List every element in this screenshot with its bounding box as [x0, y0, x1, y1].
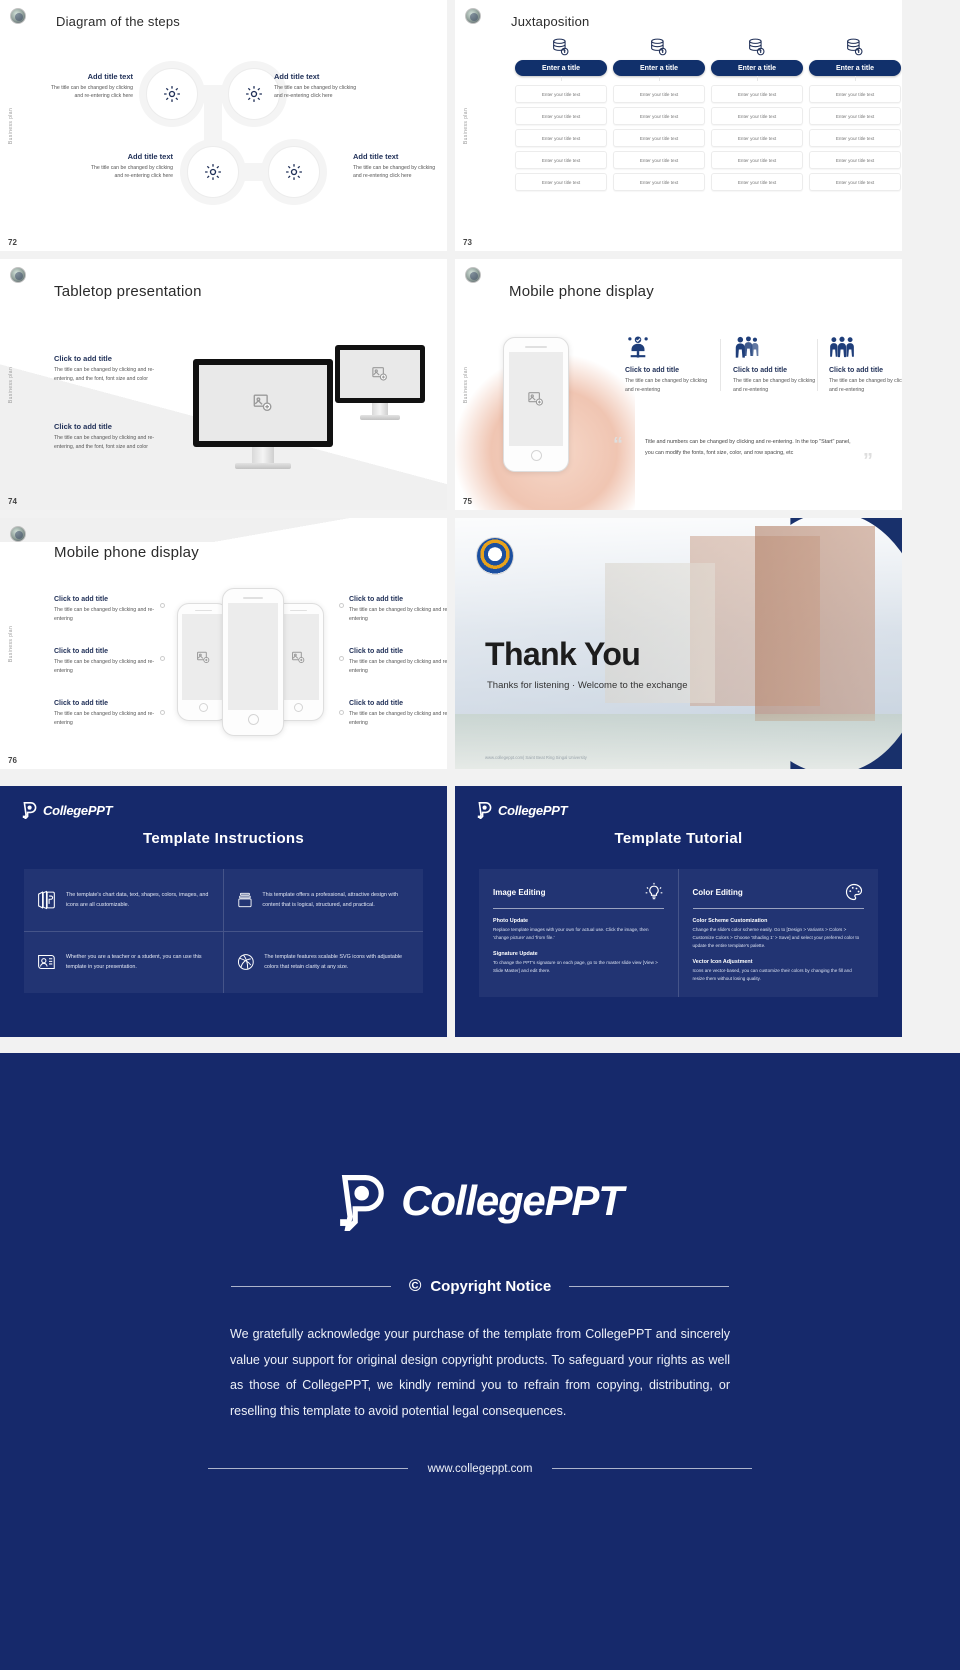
juxtaposition-cell[interactable]: Enter your title text	[613, 151, 705, 169]
slide-number: 74	[8, 497, 17, 506]
brand-name: CollegePPT	[498, 803, 567, 818]
juxtaposition-column: Enter a titleEnter your title textEnter …	[613, 38, 705, 191]
image-placeholder-icon	[252, 392, 274, 414]
step-title: Add title text	[274, 72, 364, 81]
item-body: The title can be changed by clicking and…	[54, 606, 156, 625]
slide-side-label: Business plan	[8, 107, 14, 143]
left-item-2: Click to add title The title can be chan…	[54, 648, 156, 677]
instruction-cell-4: The template features scalable SVG icons…	[224, 932, 424, 994]
slide-title: Template Instructions	[0, 830, 447, 847]
phone-speaker	[195, 610, 212, 611]
slide-title: Tabletop presentation	[54, 283, 202, 300]
item-title: Click to add title	[349, 648, 447, 655]
brand-name: CollegePPT	[401, 1177, 622, 1225]
gear-node-2[interactable]	[228, 68, 280, 120]
slide-mobile-phone-display-a[interactable]: Business plan Mobile phone display Cli	[455, 259, 902, 510]
thank-you-subheading: Thanks for listening · Welcome to the ex…	[487, 680, 687, 691]
phone-home-button[interactable]	[248, 714, 259, 725]
copyright-brand-logo: CollegePPT	[337, 1171, 622, 1231]
copyright-footer: www.collegeppt.com	[208, 1463, 753, 1475]
phone-home-button[interactable]	[294, 703, 303, 712]
juxtaposition-cell[interactable]: Enter your title text	[809, 107, 901, 125]
phone-speaker	[525, 346, 547, 348]
step-title: Add title text	[48, 72, 133, 81]
item-body: The title can be changed by clicking and…	[349, 606, 447, 625]
step-block-1: Add title text The title can be changed …	[48, 72, 133, 100]
step-body: The title can be changed by clicking and…	[48, 84, 133, 100]
item-body: The title can be changed by clicking and…	[733, 377, 821, 396]
collegeppt-mark-icon	[477, 801, 493, 819]
slide-side-label: Business plan	[463, 107, 469, 143]
gear-node-4[interactable]	[268, 146, 320, 198]
item-title: Click to add title	[54, 354, 172, 363]
copyright-symbol-icon: ©	[409, 1276, 422, 1296]
slide-number: 75	[463, 497, 472, 506]
item-title: Click to add title	[54, 648, 156, 655]
slide-title: Template Tutorial	[455, 830, 902, 847]
juxtaposition-cell[interactable]: Enter your title text	[711, 173, 803, 191]
gear-icon	[203, 162, 223, 182]
juxtaposition-title-button[interactable]: Enter a title	[809, 60, 901, 76]
column-heading: Image Editing	[493, 888, 545, 897]
left-item-3: Click to add title The title can be chan…	[54, 700, 156, 729]
juxtaposition-cell[interactable]: Enter your title text	[809, 85, 901, 103]
slide-juxtaposition[interactable]: Business plan Juxtaposition Enter a titl…	[455, 0, 902, 251]
item-body: The title can be changed by clicking and…	[829, 377, 902, 396]
slide-tabletop-presentation[interactable]: Business plan Tabletop presentation Clic…	[0, 259, 447, 510]
juxtaposition-cell[interactable]: Enter your title text	[613, 129, 705, 147]
dribbble-icon	[236, 947, 256, 977]
university-seal-icon	[465, 267, 481, 283]
copyright-notice-row: © Copyright Notice	[231, 1276, 729, 1296]
stem-line	[855, 76, 856, 81]
university-seal-icon	[10, 267, 26, 283]
column-heading: Color Editing	[693, 888, 743, 897]
juxtaposition-cell[interactable]: Enter your title text	[515, 173, 607, 191]
juxtaposition-cell[interactable]: Enter your title text	[515, 129, 607, 147]
tabletop-item-1: Click to add title The title can be chan…	[54, 354, 172, 385]
juxtaposition-cell[interactable]: Enter your title text	[711, 85, 803, 103]
university-logo	[477, 538, 513, 574]
step-title: Add title text	[88, 152, 173, 161]
section-subtitle: Photo Update	[493, 918, 664, 924]
slide-template-instructions[interactable]: CollegePPT Template Instructions The tem…	[0, 786, 447, 1037]
image-placeholder-icon	[291, 650, 306, 665]
item-title: Click to add title	[829, 367, 902, 374]
collegeppt-mark-icon	[337, 1171, 389, 1231]
people-group-icon	[733, 335, 759, 359]
juxtaposition-title-button[interactable]: Enter a title	[711, 60, 803, 76]
slide-contact-sheet: Business plan Diagram of the steps	[0, 0, 960, 1670]
juxtaposition-cell[interactable]: Enter your title text	[809, 151, 901, 169]
image-placeholder-icon	[527, 390, 545, 408]
coin-stack-icon	[613, 38, 705, 56]
step-body: The title can be changed by clicking and…	[88, 164, 173, 180]
collegeppt-mark-icon	[22, 801, 38, 819]
item-body: The title can be changed by clicking and…	[54, 710, 156, 729]
quote-open-icon: “	[613, 439, 623, 451]
rule-right	[552, 1468, 752, 1469]
right-item-1: Click to add title The title can be chan…	[349, 596, 447, 625]
juxtaposition-title-button[interactable]: Enter a title	[515, 60, 607, 76]
brand-logo: CollegePPT	[22, 801, 112, 819]
right-item-3: Click to add title The title can be chan…	[349, 700, 447, 729]
slide-side-label: Business plan	[8, 625, 14, 661]
instruction-cell-3: Whether you are a teacher or a student, …	[24, 932, 224, 994]
phone-speaker	[243, 597, 263, 599]
juxtaposition-cell[interactable]: Enter your title text	[711, 129, 803, 147]
section-subtitle: Color Scheme Customization	[693, 918, 865, 924]
juxtaposition-cell[interactable]: Enter your title text	[515, 85, 607, 103]
rule-right	[569, 1286, 729, 1287]
item-title: Click to add title	[54, 422, 172, 431]
stem-line	[757, 76, 758, 81]
slide-template-tutorial[interactable]: CollegePPT Template Tutorial Image Editi…	[455, 786, 902, 1037]
connector-dot	[160, 603, 165, 608]
slide-title: Diagram of the steps	[56, 14, 180, 29]
lightbulb-icon	[644, 882, 664, 902]
connector-dot	[160, 656, 165, 661]
juxtaposition-cell[interactable]: Enter your title text	[613, 173, 705, 191]
instruction-cell-2: This template offers a professional, att…	[224, 869, 424, 932]
instructions-grid: The template's chart data, text, shapes,…	[24, 869, 423, 993]
section-body: Replace template images with your own fo…	[493, 926, 664, 942]
juxtaposition-cell[interactable]: Enter your title text	[809, 173, 901, 191]
juxtaposition-cell[interactable]: Enter your title text	[711, 151, 803, 169]
university-seal-icon	[465, 8, 481, 24]
step-title: Add title text	[353, 152, 443, 161]
university-seal-icon	[10, 526, 26, 542]
instruction-text: The template's chart data, text, shapes,…	[66, 890, 211, 910]
header-shape	[0, 518, 447, 542]
juxtaposition-cell[interactable]: Enter your title text	[711, 107, 803, 125]
divider-2	[817, 339, 818, 391]
id-card-icon	[36, 947, 57, 977]
rule-left	[208, 1468, 408, 1469]
tutorial-column-color-editing: Color Editing Color Scheme Customization…	[679, 869, 879, 997]
section-body: Icons are vector-based, you can customiz…	[693, 967, 865, 983]
juxtaposition-column: Enter a titleEnter your title textEnter …	[809, 38, 901, 191]
stem-line	[561, 76, 562, 81]
divider-1	[720, 339, 721, 391]
copyright-body-text: We gratefully acknowledge your purchase …	[230, 1322, 730, 1425]
connector-dot	[339, 656, 344, 661]
juxtaposition-cell[interactable]: Enter your title text	[613, 85, 705, 103]
copyright-notice-title: © Copyright Notice	[409, 1276, 551, 1296]
slide-title: Juxtaposition	[511, 14, 589, 29]
item-title: Click to add title	[349, 596, 447, 603]
step-block-4: Add title text The title can be changed …	[353, 152, 443, 180]
stem-line	[659, 76, 660, 81]
three-people-icon	[829, 335, 855, 359]
coin-stack-icon	[515, 38, 607, 56]
tabletop-item-2: Click to add title The title can be chan…	[54, 422, 172, 453]
juxtaposition-column: Enter a titleEnter your title textEnter …	[711, 38, 803, 191]
section-body: To change the PPT's signature on each pa…	[493, 959, 664, 975]
item-body: The title can be changed by clicking and…	[54, 366, 172, 385]
section-body: Change the slide's color scheme easily. …	[693, 926, 865, 950]
section-subtitle: Signature Update	[493, 951, 664, 957]
item-body: The title can be changed by clicking and…	[349, 658, 447, 677]
column-heading-row: Color Editing	[693, 882, 865, 909]
brand-name: CollegePPT	[43, 803, 112, 818]
copyright-panel: CollegePPT © Copyright Notice We gratefu…	[0, 1053, 960, 1670]
juxtaposition-cell[interactable]: Enter your title text	[515, 151, 607, 169]
gear-node-1[interactable]	[146, 68, 198, 120]
team-check-icon	[625, 335, 651, 359]
item-title: Click to add title	[54, 596, 156, 603]
connector-dot	[339, 603, 344, 608]
juxtaposition-cell[interactable]: Enter your title text	[613, 107, 705, 125]
slide-thank-you[interactable]: Thank You Thanks for listening · Welcome…	[455, 518, 902, 769]
rule-left	[231, 1286, 391, 1287]
gear-node-3[interactable]	[187, 146, 239, 198]
item-title: Click to add title	[625, 367, 713, 374]
left-item-1: Click to add title The title can be chan…	[54, 596, 156, 625]
tutorial-column-image-editing: Image Editing Photo Update Replace templ…	[479, 869, 679, 997]
brand-logo: CollegePPT	[477, 801, 567, 819]
feature-item-3: Click to add title The title can be chan…	[829, 335, 902, 396]
instruction-cell-1: The template's chart data, text, shapes,…	[24, 869, 224, 932]
tutorial-grid: Image Editing Photo Update Replace templ…	[479, 869, 878, 997]
item-body: The title can be changed by clicking and…	[625, 377, 713, 396]
connector-dot	[339, 710, 344, 715]
slide-p-icon	[36, 885, 57, 915]
slide-title: Mobile phone display	[54, 544, 199, 561]
slide-side-label: Business plan	[8, 366, 14, 402]
quote-text: Title and numbers can be changed by clic…	[645, 437, 860, 459]
item-title: Click to add title	[733, 367, 821, 374]
university-seal-icon	[10, 8, 26, 24]
instruction-text: The template features scalable SVG icons…	[264, 952, 411, 972]
section-subtitle: Vector Icon Adjustment	[693, 959, 865, 965]
step-block-2: Add title text The title can be changed …	[274, 72, 364, 100]
right-item-2: Click to add title The title can be chan…	[349, 648, 447, 677]
slide-number: 73	[463, 238, 472, 247]
thank-you-footer: www.collegeppt.com| Saint Beat Ring Sing…	[485, 755, 587, 760]
slide-mobile-phone-display-b[interactable]: Business plan Mobile phone display Click…	[0, 518, 447, 769]
juxtaposition-cell[interactable]: Enter your title text	[809, 129, 901, 147]
monitor-small[interactable]	[335, 345, 425, 420]
step-body: The title can be changed by clicking and…	[274, 84, 364, 100]
gear-icon	[162, 84, 182, 104]
item-body: The title can be changed by clicking and…	[54, 658, 156, 677]
gear-icon	[284, 162, 304, 182]
coin-stack-icon	[809, 38, 901, 56]
palette-icon	[844, 882, 864, 902]
image-placeholder-icon	[371, 365, 389, 383]
column-heading-row: Image Editing	[493, 882, 664, 909]
phone-center[interactable]	[222, 588, 284, 736]
phone-home-button[interactable]	[199, 703, 208, 712]
box-icon	[236, 885, 254, 915]
copyright-notice-label: Copyright Notice	[430, 1278, 551, 1295]
gear-icon	[244, 84, 264, 104]
instruction-text: Whether you are a teacher or a student, …	[66, 952, 211, 972]
slide-title: Mobile phone display	[509, 283, 654, 300]
image-placeholder-icon	[196, 650, 211, 665]
item-body: The title can be changed by clicking and…	[349, 710, 447, 729]
monitor-large[interactable]	[193, 359, 333, 469]
juxtaposition-column: Enter a titleEnter your title textEnter …	[515, 38, 607, 191]
quote-close-icon: ”	[863, 455, 873, 467]
slide-number: 72	[8, 238, 17, 247]
juxtaposition-title-button[interactable]: Enter a title	[613, 60, 705, 76]
phone-home-button[interactable]	[531, 450, 542, 461]
slide-number: 76	[8, 756, 17, 765]
item-title: Click to add title	[54, 700, 156, 707]
slide-diagram-of-the-steps[interactable]: Business plan Diagram of the steps	[0, 0, 447, 251]
feature-item-1: Click to add title The title can be chan…	[625, 335, 713, 396]
juxtaposition-cell[interactable]: Enter your title text	[515, 107, 607, 125]
phone-held[interactable]	[503, 337, 569, 472]
connector-dot	[160, 710, 165, 715]
phone-speaker	[290, 610, 307, 611]
feature-item-2: Click to add title The title can be chan…	[733, 335, 821, 396]
coin-stack-icon	[711, 38, 803, 56]
website-url[interactable]: www.collegeppt.com	[428, 1463, 533, 1475]
step-block-3: Add title text The title can be changed …	[88, 152, 173, 180]
step-body: The title can be changed by clicking and…	[353, 164, 443, 180]
instruction-text: This template offers a professional, att…	[262, 890, 411, 910]
item-body: The title can be changed by clicking and…	[54, 434, 172, 453]
thank-you-heading: Thank You	[485, 636, 640, 673]
item-title: Click to add title	[349, 700, 447, 707]
